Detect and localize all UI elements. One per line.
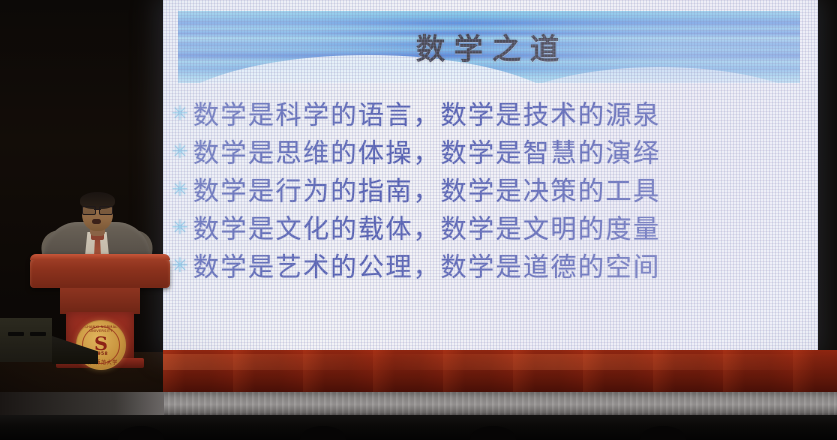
audience-silhouette — [640, 426, 686, 440]
slide-title-banner: 数学之道 — [178, 11, 800, 83]
speaker-mouth — [92, 219, 101, 224]
stage-skirt-banner — [163, 350, 837, 394]
bullet-asterisk-icon: ✳ — [167, 217, 193, 237]
slide-line: ✳ 数学是思维的体操，数学是智慧的演绎 — [163, 132, 818, 170]
bullet-asterisk-icon: ✳ — [167, 103, 193, 123]
glasses-lens-left — [82, 206, 96, 215]
stage-prop-box — [0, 318, 52, 362]
audience-silhouette — [300, 426, 346, 440]
lectern-lip — [30, 254, 170, 260]
bullet-asterisk-icon: ✳ — [167, 141, 193, 161]
slide-body: ✳ 数学是科学的语言，数学是技术的源泉 ✳ 数学是思维的体操，数学是智慧的演绎 … — [163, 94, 818, 284]
audience-silhouette — [118, 426, 164, 440]
slide-line-text: 数学是思维的体操，数学是智慧的演绎 — [193, 133, 661, 170]
bullet-asterisk-icon: ✳ — [167, 179, 193, 199]
slide-line-text: 数学是文化的载体，数学是文明的度量 — [193, 209, 661, 246]
slide-line: ✳ 数学是文化的载体，数学是文明的度量 — [163, 208, 818, 246]
prop-slot — [30, 332, 46, 336]
slide-line-text: 数学是艺术的公理，数学是道德的空间 — [193, 247, 661, 284]
skirt-highlight — [163, 354, 837, 370]
slide-title: 数学之道 — [178, 11, 800, 83]
bullet-asterisk-icon: ✳ — [167, 255, 193, 275]
slide-line: ✳ 数学是艺术的公理，数学是道德的空间 — [163, 246, 818, 284]
prop-slot — [8, 332, 24, 336]
glasses-lens-right — [99, 206, 113, 215]
lectern-desktop — [30, 254, 170, 288]
lecture-scene: 数学之道 ✳ 数学是科学的语言，数学是技术的源泉 ✳ 数学是思维的体操，数学是智… — [0, 0, 837, 440]
slide-line: ✳ 数学是行为的指南，数学是决策的工具 — [163, 170, 818, 208]
slide-line: ✳ 数学是科学的语言，数学是技术的源泉 — [163, 94, 818, 132]
backdrop-right-panel — [815, 0, 837, 352]
lectern-neck — [60, 288, 140, 314]
slide-line-text: 数学是科学的语言，数学是技术的源泉 — [193, 95, 661, 132]
glasses-icon — [82, 206, 113, 213]
audience-silhouette — [470, 426, 516, 440]
led-projection-screen: 数学之道 ✳ 数学是科学的语言，数学是技术的源泉 ✳ 数学是思维的体操，数学是智… — [163, 0, 818, 352]
audience-foreground — [0, 415, 837, 440]
slide-line-text: 数学是行为的指南，数学是决策的工具 — [193, 171, 661, 208]
